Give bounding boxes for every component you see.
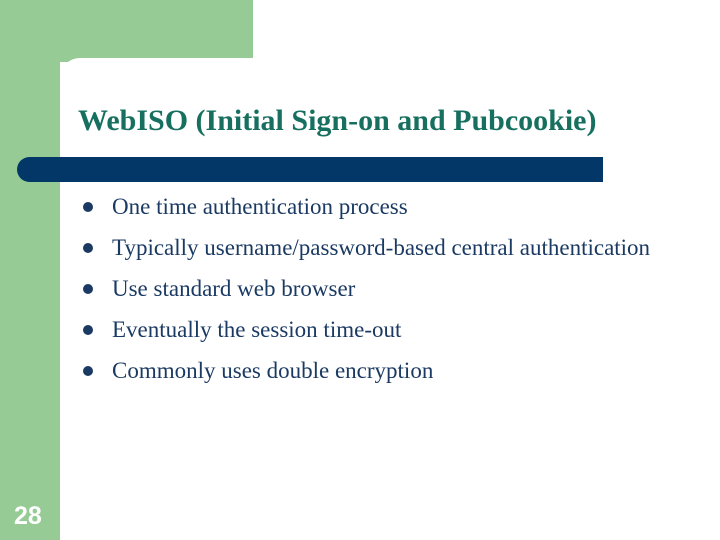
list-item: Typically username/password-based centra…: [78, 233, 658, 263]
list-item: Eventually the session time-out: [78, 315, 658, 345]
title-underline-bar: [17, 157, 603, 182]
slide-title: WebISO (Initial Sign-on and Pubcookie): [78, 98, 712, 148]
bullet-dot-icon: [83, 202, 93, 212]
list-item: Use standard web browser: [78, 274, 658, 304]
page-number: 28: [14, 502, 42, 531]
list-item-label: One time authentication process: [112, 192, 658, 222]
slide-canvas: WebISO (Initial Sign-on and Pubcookie) O…: [0, 0, 720, 540]
list-item: Commonly uses double encryption: [78, 356, 658, 386]
list-item-label: Eventually the session time-out: [112, 315, 658, 345]
list-item-label: Typically username/password-based centra…: [112, 233, 658, 263]
bullet-dot-icon: [83, 366, 93, 376]
decor-green-left-band: [0, 0, 60, 540]
list-item-label: Commonly uses double encryption: [112, 356, 658, 386]
bullet-dot-icon: [83, 284, 93, 294]
bullet-list: One time authentication process Typicall…: [78, 192, 658, 397]
list-item-label: Use standard web browser: [112, 274, 658, 304]
bullet-dot-icon: [83, 325, 93, 335]
list-item: One time authentication process: [78, 192, 658, 222]
bullet-dot-icon: [83, 243, 93, 253]
decor-green-top-band: [0, 0, 253, 62]
